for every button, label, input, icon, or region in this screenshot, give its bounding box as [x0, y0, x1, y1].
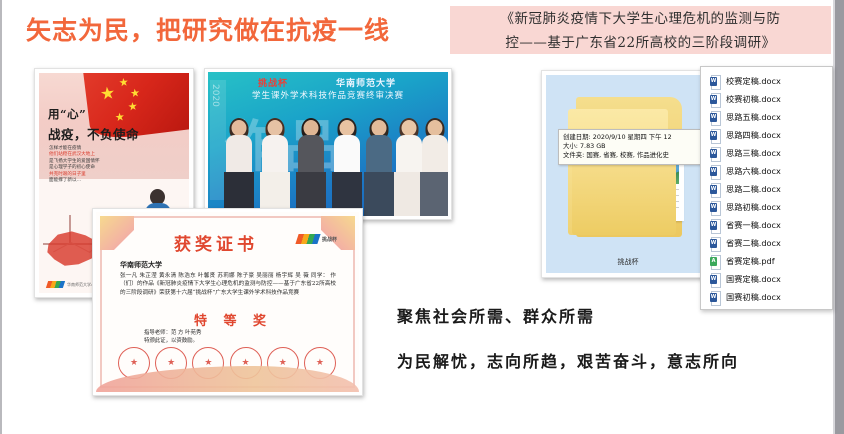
- slogan-line-1: 聚焦社会所需、群众所需: [397, 303, 595, 327]
- word-file-icon: W: [710, 273, 721, 286]
- person-bottom: [364, 172, 394, 216]
- file-name: 国赛初稿.docx: [726, 291, 781, 303]
- file-name: 省赛一稿.docx: [726, 219, 781, 231]
- file-list-item[interactable]: W思路二稿.docx: [701, 180, 832, 198]
- word-file-icon: W: [710, 237, 721, 250]
- file-list-item[interactable]: W思路四稿.docx: [701, 126, 832, 144]
- certificate-content: 获奖证书 挑战杯 华南师范大学 张一凡 朱芷滢 黄永清 陈浩东 叶馨贤 苏莉娜 …: [96, 212, 359, 392]
- file-name: 思路四稿.docx: [726, 129, 781, 141]
- person-head: [340, 120, 355, 136]
- person-head: [304, 120, 319, 136]
- file-name: 思路三稿.docx: [726, 147, 781, 159]
- person-head: [428, 120, 443, 136]
- poster-heading-1: 用“心”: [48, 106, 86, 122]
- file-list-panel[interactable]: W校赛定稿.docxW校赛初稿.docxW思路五稿.docxW思路四稿.docx…: [700, 66, 833, 310]
- banner-side-text: 2020: [210, 80, 220, 107]
- file-list-item[interactable]: W思路三稿.docx: [701, 144, 832, 162]
- certificate-note: 特颁此证，以资鼓励。: [144, 338, 201, 346]
- file-name: 省赛二稿.docx: [726, 237, 781, 249]
- file-name: 校赛初稿.docx: [726, 93, 781, 105]
- flag-star-large: ★: [99, 88, 115, 101]
- certificate-title: 获奖证书: [174, 230, 258, 255]
- certificate-logo: 挑战杯: [297, 234, 337, 244]
- project-title-line-2: 控——基于广东省22所高校的三阶段调研》: [450, 30, 831, 54]
- file-name: 省赛定稿.pdf: [726, 255, 775, 267]
- slogan-line-2: 为民解忧，志向所趋，艰苦奋斗，意志所向: [397, 348, 739, 372]
- file-list-item[interactable]: W校赛初稿.docx: [701, 90, 832, 108]
- word-file-icon: W: [710, 183, 721, 196]
- poster-body-text: 怎样才能在疫情 他们站稳在武汉大地上 是飞扬大学生的爱国情怀 是心理学子的初心使…: [49, 146, 111, 184]
- folder-view: 创建日期: 2020/9/10 星期四 下午 12 大小: 7.83 GB 文件…: [546, 75, 710, 273]
- file-list-item[interactable]: W国赛定稿.docx: [701, 270, 832, 288]
- slide-canvas: 矢志为民，把研究做在抗疫一线 《新冠肺炎疫情下大学生心理危机的监测与防 控——基…: [0, 0, 844, 434]
- file-list-item[interactable]: W思路六稿.docx: [701, 162, 832, 180]
- group-photo: 2020 作品 挑战杯 华南师范大学 学生课外学术科技作品竞赛终审决赛: [204, 68, 452, 220]
- file-name: 思路六稿.docx: [726, 165, 781, 177]
- person-head: [268, 120, 283, 136]
- word-file-icon: W: [710, 165, 721, 178]
- folder-tooltip: 创建日期: 2020/9/10 星期四 下午 12 大小: 7.83 GB 文件…: [558, 129, 710, 165]
- file-list-item[interactable]: W国赛初稿.docx: [701, 288, 832, 306]
- certificate-corner-ornament: [100, 216, 134, 250]
- word-file-icon: W: [710, 147, 721, 160]
- file-list-item[interactable]: W思路初稿.docx: [701, 198, 832, 216]
- word-file-icon: W: [710, 93, 721, 106]
- person-in-photo: [260, 120, 290, 216]
- slide-left-edge: [0, 0, 2, 434]
- folder-screenshot: 创建日期: 2020/9/10 星期四 下午 12 大小: 7.83 GB 文件…: [541, 70, 715, 278]
- university-logo-icon: [46, 281, 65, 288]
- poster-body-line: 面能撑了新以…: [49, 178, 111, 184]
- file-list-item[interactable]: W校赛定稿.docx: [701, 72, 832, 90]
- file-list-item[interactable]: W省赛二稿.docx: [701, 234, 832, 252]
- file-list-item[interactable]: W省赛一稿.docx: [701, 216, 832, 234]
- group-photo-content: 2020 作品 挑战杯 华南师范大学 学生课外学术科技作品竞赛终审决赛: [208, 72, 448, 216]
- word-file-icon: W: [710, 201, 721, 214]
- word-file-icon: W: [710, 291, 721, 304]
- certificate-advisor-block: 指导老师：范 方 叶苑秀 特颁此证，以资鼓励。: [144, 330, 201, 345]
- word-file-icon: W: [710, 129, 721, 142]
- person-in-photo: [332, 120, 362, 216]
- person-in-photo: [224, 120, 254, 216]
- word-file-icon: W: [710, 75, 721, 88]
- folder-label: 挑战杯: [546, 257, 710, 267]
- certificate-prize-level: 特 等 奖: [194, 310, 272, 329]
- pdf-file-icon: A: [710, 255, 721, 268]
- banner-subtitle: 学生课外学术科技作品竞赛终审决赛: [252, 89, 404, 101]
- person-bottom: [420, 172, 448, 216]
- tooltip-subfolders: 文件夹: 国赛, 省赛, 校赛, 作品进化史: [563, 151, 710, 160]
- banner-red-title: 挑战杯: [258, 76, 288, 89]
- file-list-item[interactable]: A省赛定稿.pdf: [701, 252, 832, 270]
- person-in-photo: [364, 120, 394, 216]
- word-file-icon: W: [710, 219, 721, 232]
- banner-white-title: 华南师范大学: [336, 76, 396, 89]
- certificate-logo-text: 挑战杯: [322, 236, 337, 243]
- certificate-body-text: 张一凡 朱芷滢 黄永清 陈浩东 叶馨贤 苏莉娜 陈子豪 吴丽丽 杨宇辉 吴 薇 …: [120, 272, 336, 297]
- flag-star-3: ★: [127, 101, 138, 113]
- project-title-line-1: 《新冠肺炎疫情下大学生心理危机的监测与防: [450, 6, 831, 30]
- file-list-item[interactable]: W思路五稿.docx: [701, 108, 832, 126]
- poster-heading-2: 战疫，不负使命: [48, 124, 139, 143]
- person-in-photo: [420, 120, 448, 216]
- certificate-corner-ornament: [321, 216, 355, 250]
- challenge-cup-logo-icon: [295, 234, 320, 244]
- tooltip-created-date: 创建日期: 2020/9/10 星期四 下午 12: [563, 133, 710, 142]
- project-title-box: 《新冠肺炎疫情下大学生心理危机的监测与防 控——基于广东省22所高校的三阶段调研…: [450, 6, 831, 54]
- person-head: [232, 120, 247, 136]
- page-title: 矢志为民，把研究做在抗疫一线: [26, 11, 426, 47]
- flag-star-1: ★: [118, 76, 129, 88]
- flag-star-4: ★: [114, 111, 125, 123]
- person-head: [372, 120, 387, 136]
- person-in-photo: [296, 120, 326, 216]
- file-name: 思路初稿.docx: [726, 201, 781, 213]
- flag-star-2: ★: [129, 87, 140, 99]
- award-certificate-image: 获奖证书 挑战杯 华南师范大学 张一凡 朱芷滢 黄永清 陈浩东 叶馨贤 苏莉娜 …: [92, 208, 363, 396]
- file-name: 校赛定稿.docx: [726, 75, 781, 87]
- vertical-scrollbar[interactable]: [835, 0, 844, 434]
- file-name: 国赛定稿.docx: [726, 273, 781, 285]
- certificate-university: 华南师范大学: [120, 260, 162, 270]
- person-head: [402, 120, 417, 136]
- file-name: 思路五稿.docx: [726, 111, 781, 123]
- certificate-advisor: 指导老师：范 方 叶苑秀: [144, 330, 201, 338]
- file-name: 思路二稿.docx: [726, 183, 781, 195]
- word-file-icon: W: [710, 111, 721, 124]
